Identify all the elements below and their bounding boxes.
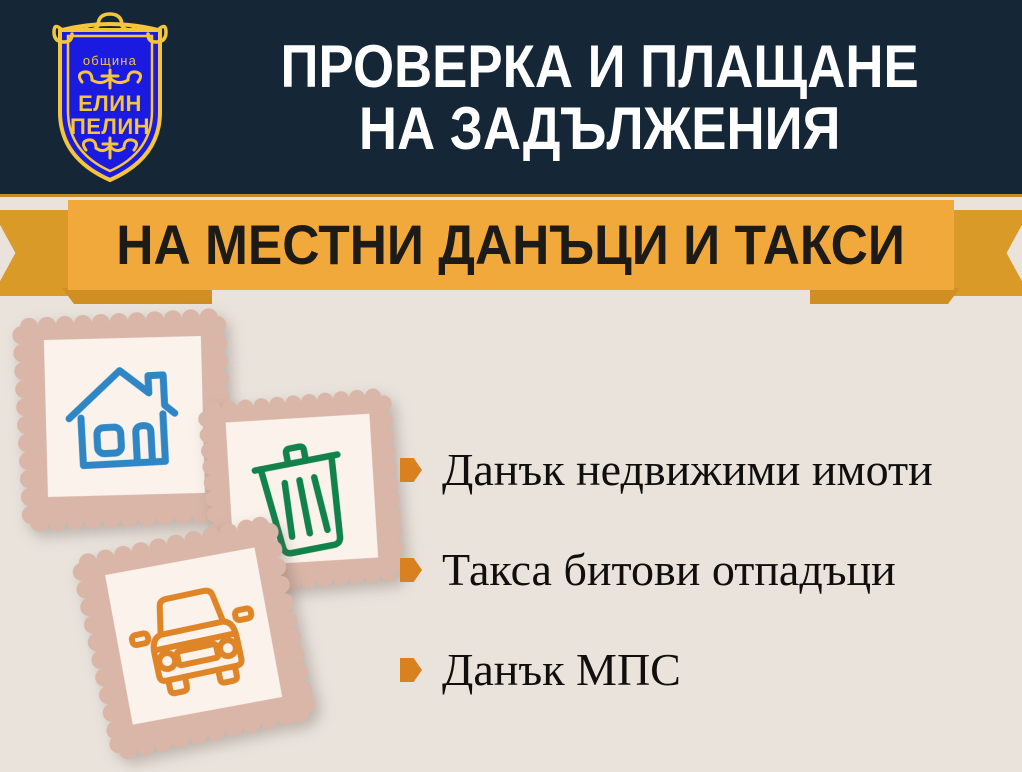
ribbon-fold-left (62, 288, 212, 304)
list-item-label: Такса битови отпадъци (442, 546, 896, 594)
ribbon-fold-right (810, 288, 960, 304)
list-item[interactable]: Данък недвижими имоти (400, 420, 1010, 520)
svg-text:ЕЛИН: ЕЛИН (78, 91, 142, 116)
tax-type-list: Данък недвижими имоти Такса битови отпад… (400, 420, 1010, 720)
arrow-bullet-icon (400, 558, 422, 582)
poster-canvas: община ЕЛИН ПЕЛИН ПРОВЕ (0, 0, 1022, 772)
page-title-line-2: НА ЗАДЪЛЖЕНИЯ (359, 98, 841, 160)
list-item[interactable]: Такса битови отпадъци (400, 520, 1010, 620)
page-title: ПРОВЕРКА И ПЛАЩАНЕ НА ЗАДЪЛЖЕНИЯ (190, 18, 1010, 178)
ribbon-banner: НА МЕСТНИ ДАНЪЦИ И ТАКСИ (68, 200, 954, 290)
list-item-label: Данък недвижими имоти (442, 446, 933, 494)
svg-text:община: община (83, 53, 137, 68)
arrow-bullet-icon (400, 658, 422, 682)
ribbon-label: НА МЕСТНИ ДАНЪЦИ И ТАКСИ (117, 217, 906, 273)
list-item-label: Данък МПС (442, 646, 681, 694)
subtitle-ribbon: НА МЕСТНИ ДАНЪЦИ И ТАКСИ (0, 196, 1022, 306)
municipality-crest-logo: община ЕЛИН ПЕЛИН (40, 8, 180, 186)
page-title-line-1: ПРОВЕРКА И ПЛАЩАНЕ (281, 36, 919, 98)
list-item[interactable]: Данък МПС (400, 620, 1010, 720)
stamp-card-vehicle (68, 512, 319, 763)
svg-text:ПЕЛИН: ПЕЛИН (70, 114, 150, 139)
arrow-bullet-icon (400, 458, 422, 482)
